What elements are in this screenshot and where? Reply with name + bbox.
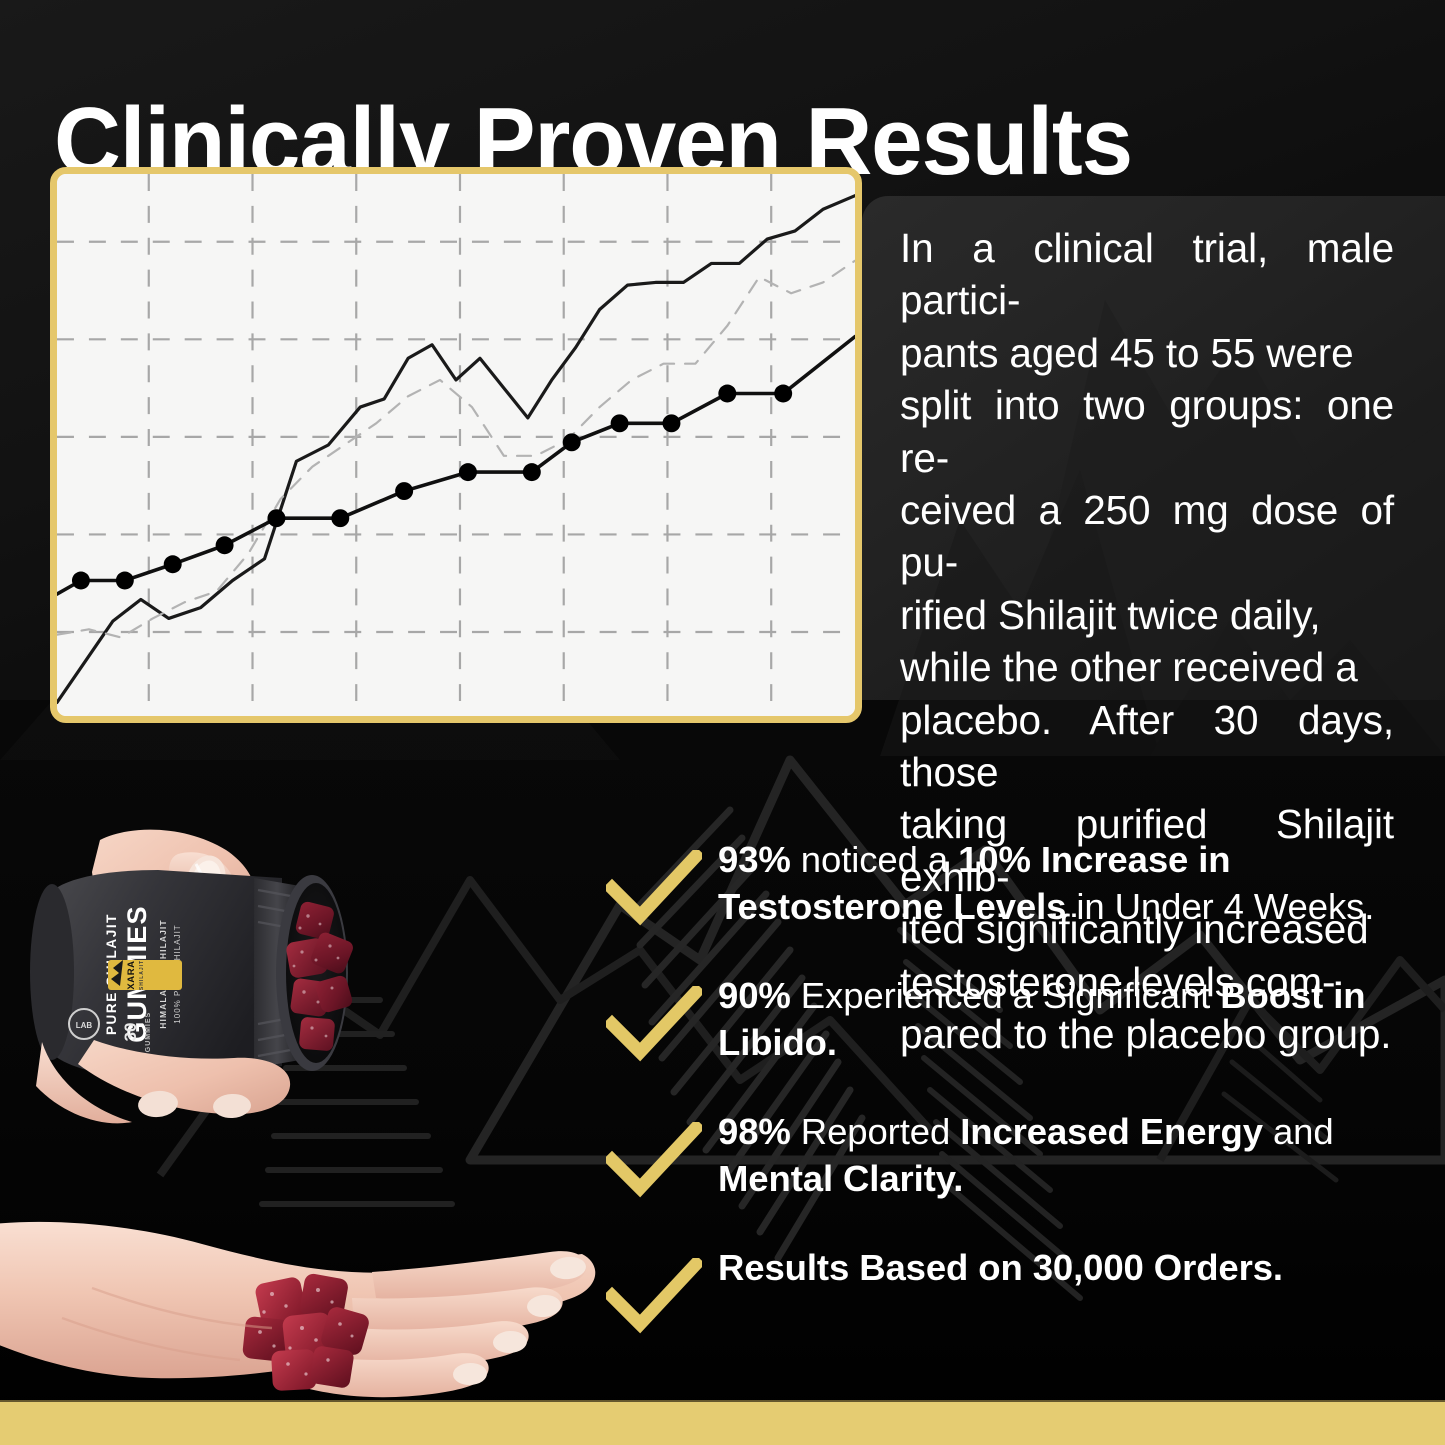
bullet-text-emphasis: Results Based on 30,000 Orders. <box>718 1247 1283 1288</box>
product-jar-in-hand-photo: PURE SHILAJIT GUMMIES HIMALAYAN SHILAJIT… <box>0 828 412 1158</box>
open-palm-with-gummies-photo <box>0 1168 612 1418</box>
check-icon <box>606 850 702 926</box>
bullet-item: 98% Reported Increased Energy and Mental… <box>606 1108 1444 1202</box>
product-jar: PURE SHILAJIT GUMMIES HIMALAYAN SHILAJIT… <box>30 870 355 1078</box>
paragraph-line: placebo. After 30 days, those <box>900 694 1394 799</box>
paragraph-line: ceived a 250 mg dose of pu- <box>900 484 1394 589</box>
check-icon <box>606 986 702 1062</box>
bullet-text-emphasis: Increased Energy <box>960 1111 1263 1152</box>
bullet-text: 98% Reported Increased Energy and Mental… <box>718 1108 1444 1202</box>
bullet-item: 90% Experienced a Significant Boost in L… <box>606 972 1444 1066</box>
jar-label-count-number: 30 <box>121 1023 140 1042</box>
check-icon <box>606 986 702 1062</box>
chart-data-point-marker <box>72 572 90 590</box>
testosterone-trend-line-chart <box>57 174 855 716</box>
chart-data-point-marker <box>395 482 413 500</box>
chart-data-point-marker <box>718 385 736 403</box>
chart-data-point-marker <box>216 536 234 554</box>
check-icon <box>606 850 702 926</box>
bullet-item: 93% noticed a 10% Increase in Testostero… <box>606 836 1444 930</box>
chart-data-point-marker <box>611 414 629 432</box>
chart-data-point-marker <box>267 509 285 527</box>
paragraph-line: In a clinical trial, male partici- <box>900 222 1394 327</box>
chart-data-point-marker <box>164 555 182 573</box>
bullet-text-plain: in Under 4 Weeks. <box>1066 886 1374 927</box>
bullet-text-plain: Reported <box>791 1111 960 1152</box>
paragraph-line: rified Shilajit twice daily, <box>900 589 1394 641</box>
bullet-text: 90% Experienced a Significant Boost in L… <box>718 972 1444 1066</box>
bullet-text-plain: noticed a <box>791 839 958 880</box>
bullet-text: 93% noticed a 10% Increase in Testostero… <box>718 836 1444 930</box>
chart-plot-background <box>57 174 855 716</box>
bullet-item: Results Based on 30,000 Orders. <box>606 1244 1444 1336</box>
chart-data-point-marker <box>459 463 477 481</box>
bullet-text-plain: Experienced a Significant <box>791 975 1220 1016</box>
bullet-text-plain: and <box>1263 1111 1334 1152</box>
brand-badge: XARA SHILAJIT <box>108 960 182 990</box>
bottom-gold-bar <box>0 1402 1445 1445</box>
chart-data-point-marker <box>523 463 541 481</box>
chart-data-point-marker <box>662 414 680 432</box>
bullet-text-emphasis: 98% <box>718 1111 791 1152</box>
check-icon <box>606 1258 702 1334</box>
results-bullet-list: 93% noticed a 10% Increase in Testostero… <box>606 836 1444 1336</box>
brand-name: XARA <box>126 960 137 989</box>
brand-subtitle: SHILAJIT <box>139 960 145 990</box>
check-icon <box>606 1258 702 1334</box>
chart-data-point-marker <box>774 385 792 403</box>
chart-data-point-marker <box>331 509 349 527</box>
lab-seal-text: LAB <box>76 1021 93 1030</box>
chart-data-point-marker <box>116 572 134 590</box>
bullet-text-emphasis: 93% <box>718 839 791 880</box>
paragraph-line: split into two groups: one re- <box>900 379 1394 484</box>
jar-label-count-word: GUMMIES <box>145 1012 152 1052</box>
bullet-text-emphasis: 90% <box>718 975 791 1016</box>
bullet-text: Results Based on 30,000 Orders. <box>718 1244 1444 1291</box>
paragraph-line: pants aged 45 to 55 were <box>900 327 1394 379</box>
bullet-text-emphasis: Mental Clarity. <box>718 1158 963 1199</box>
check-icon <box>606 1122 702 1198</box>
paragraph-line: while the other received a <box>900 641 1394 693</box>
chart-data-point-marker <box>563 433 581 451</box>
check-icon <box>606 1122 702 1198</box>
results-chart-card <box>50 167 862 723</box>
